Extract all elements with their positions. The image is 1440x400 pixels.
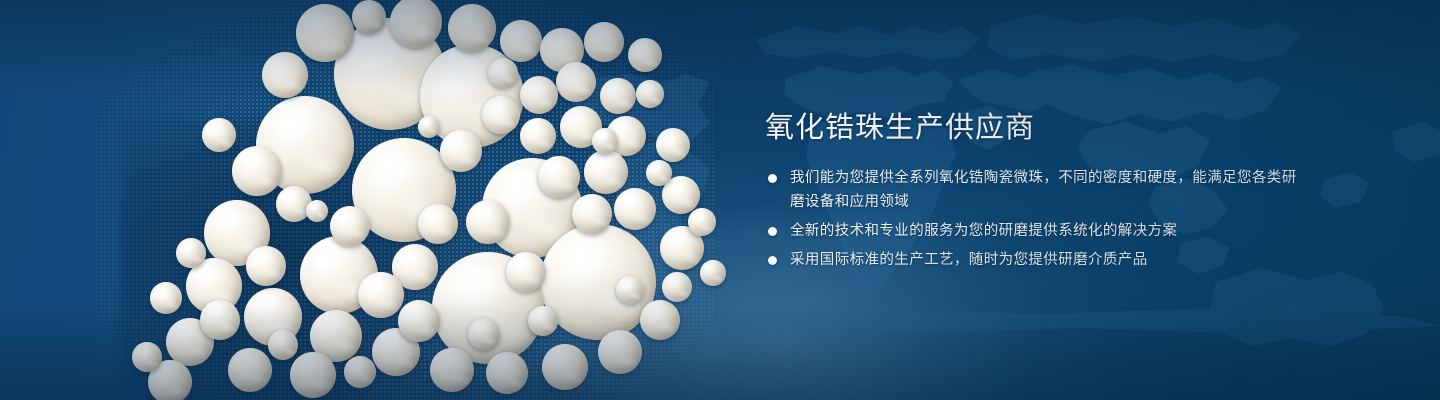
background-vignette [0, 0, 1440, 400]
hero-banner: 氧化锆珠生产供应商 我们能为您提供全系列氧化锆陶瓷微珠，不同的密度和硬度，能满足… [0, 0, 1440, 400]
